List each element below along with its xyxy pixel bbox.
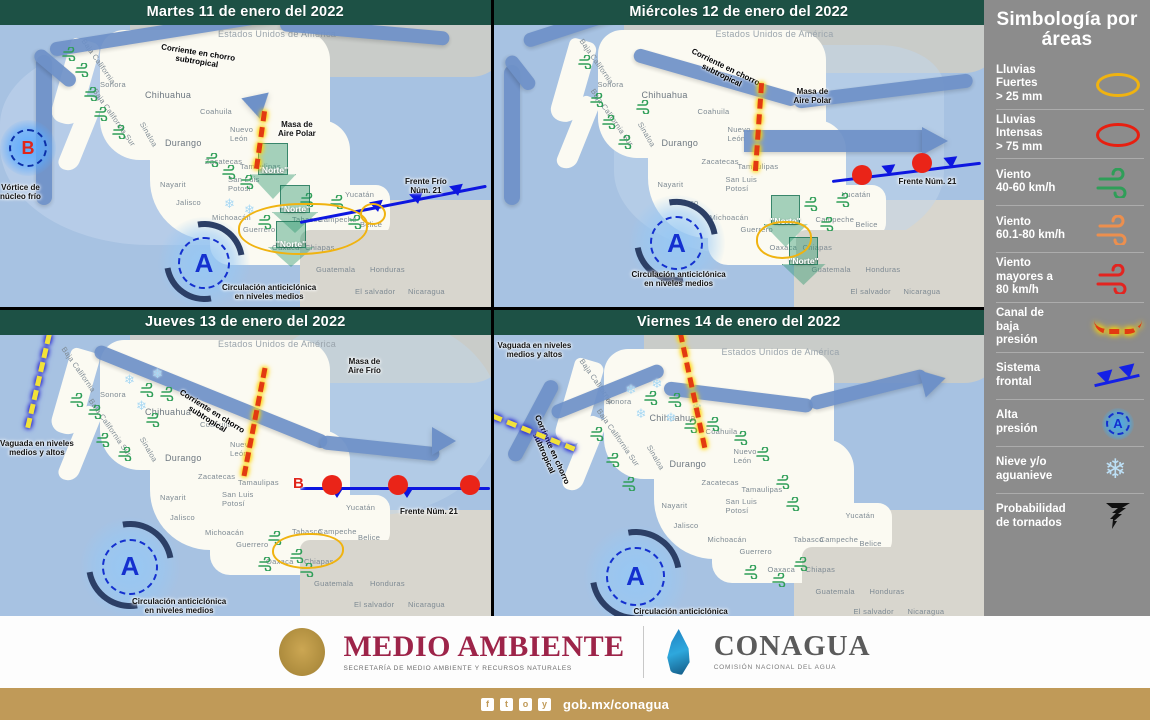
legend-label: Viento 40-60 km/h xyxy=(996,169,1092,196)
snowflake-icon: ❄ xyxy=(224,197,235,210)
cold-front-label-jueves: Frente Núm. 21 xyxy=(400,507,458,516)
forecast-panel-grid: Martes 11 de enero del 2022 Estados Unid… xyxy=(0,0,984,616)
green-wind-icon xyxy=(1092,163,1144,201)
legend-item-lluvias-fuertes[interactable]: Lluvias Fuertes > 25 mm xyxy=(996,60,1144,109)
red-oval-icon xyxy=(1092,115,1144,153)
weather-forecast-infographic: Martes 11 de enero del 2022 Estados Unid… xyxy=(0,0,1150,720)
twitter-icon[interactable]: t xyxy=(500,698,513,711)
orange-wind-icon xyxy=(1092,210,1144,248)
conagua-drop-icon xyxy=(662,627,696,677)
tornado-icon xyxy=(1092,498,1144,536)
anticyclone-label-viernes: Circulación anticiclónicaen niveles medi… xyxy=(634,607,728,617)
legend-label: Viento mayores a 80 km/h xyxy=(996,257,1092,298)
legend-label: Probabilidad de tornados xyxy=(996,503,1092,530)
cold-front-label-miercoles: Frente Núm. 21 xyxy=(899,177,957,186)
legend-item-lluvias-intensas[interactable]: Lluvias Intensas > 75 mm xyxy=(996,109,1144,159)
legend-item-alta-presion[interactable]: Alta presión A xyxy=(996,399,1144,446)
legend-label: Lluvias Fuertes > 25 mm xyxy=(996,64,1092,105)
legend-label: Sistema frontal xyxy=(996,362,1092,389)
semarnat-name: MEDIO AMBIENTE xyxy=(343,632,624,662)
polar-air-mass-label-jueves: Masa deAire Frío xyxy=(348,357,381,375)
legend-item-sistema-frontal[interactable]: Sistema frontal xyxy=(996,352,1144,399)
red-wind-icon xyxy=(1092,259,1144,297)
legend-item-viento-40-60[interactable]: Viento 40-60 km/h xyxy=(996,158,1144,205)
anticyclone-label-martes: Circulación anticiclónicaen niveles medi… xyxy=(222,283,316,301)
legend-item-nieve-aguanieve[interactable]: Nieve y/o aguanieve ❄ xyxy=(996,446,1144,493)
forecast-panel-miercoles[interactable]: Miércoles 12 de enero del 2022 Estados U… xyxy=(494,0,985,307)
panel-title-miercoles: Miércoles 12 de enero del 2022 xyxy=(494,0,985,25)
high-pressure-icon: A xyxy=(1092,404,1144,442)
legend-item-probabilidad-tornados[interactable]: Probabilidad de tornados xyxy=(996,493,1144,540)
legend-item-viento-60-80[interactable]: Viento 60.1-80 km/h xyxy=(996,205,1144,252)
intense-rain-dot xyxy=(852,165,872,185)
legend-panel: Simbología por áreas Lluvias Fuertes > 2… xyxy=(984,0,1150,616)
youtube-icon[interactable]: y xyxy=(538,698,551,711)
conagua-subtitle: COMISIÓN NACIONAL DEL AGUA xyxy=(714,665,871,672)
legend-item-viento-mayores-80[interactable]: Viento mayores a 80 km/h xyxy=(996,252,1144,302)
forecast-panel-martes[interactable]: Martes 11 de enero del 2022 Estados Unid… xyxy=(0,0,491,307)
anticyclone-viernes: A xyxy=(584,525,688,617)
polar-air-mass-label-martes: Masa deAire Polar xyxy=(278,120,316,138)
vortex-label-martes: Vórtice denúcleo frío xyxy=(0,183,41,201)
website-url[interactable]: gob.mx/conagua xyxy=(563,697,669,712)
conagua-name: CONAGUA xyxy=(714,632,871,661)
yellow-oval-icon xyxy=(1092,65,1144,103)
instagram-icon[interactable]: o xyxy=(519,698,532,711)
snowflake-icon: ❄ xyxy=(1092,451,1144,489)
intense-rain-dot xyxy=(322,475,342,495)
intense-rain-dot xyxy=(912,153,932,173)
map-viernes: Estados Unidos de América Sonora Chihuah… xyxy=(494,335,985,617)
footer-logos: MEDIO AMBIENTE SECRETARÍA DE MEDIO AMBIE… xyxy=(0,616,1150,688)
polar-air-mass-label-miercoles: Masa deAire Polar xyxy=(794,87,832,105)
legend-label: Nieve y/o aguanieve xyxy=(996,456,1092,483)
map-miercoles: Estados Unidos de América Sonora Chihuah… xyxy=(494,25,985,307)
forecast-panel-jueves[interactable]: Jueves 13 de enero del 2022 Estados Unid… xyxy=(0,310,491,617)
legend-label: Canal de baja presión xyxy=(996,307,1092,348)
cold-front-label-martes: Frente FríoNúm. 21 xyxy=(405,177,447,195)
upper-trough-label-jueves: Vaguada en nivelesmedios y altos xyxy=(0,439,74,457)
forecast-panel-viernes[interactable]: Viernes 14 de enero del 2022 Estados Uni… xyxy=(494,310,985,617)
footer-social-bar: f t o y gob.mx/conagua xyxy=(0,688,1150,720)
facebook-icon[interactable]: f xyxy=(481,698,494,711)
legend-label: Alta presión xyxy=(996,409,1092,436)
legend-title: Simbología por áreas xyxy=(984,8,1150,50)
map-martes: Estados Unidos de América Sonora Chihuah… xyxy=(0,25,491,307)
wind-icon xyxy=(62,47,78,61)
semarnat-subtitle: SECRETARÍA DE MEDIO AMBIENTE Y RECURSOS … xyxy=(343,666,624,673)
conagua-logo: CONAGUA COMISIÓN NACIONAL DEL AGUA xyxy=(714,632,871,672)
legend-label: Viento 60.1-80 km/h xyxy=(996,216,1092,243)
panel-title-jueves: Jueves 13 de enero del 2022 xyxy=(0,310,491,335)
low-pressure-trough-icon xyxy=(1092,308,1144,346)
mexico-coat-of-arms-icon xyxy=(279,628,325,676)
legend-item-canal-baja-presion[interactable]: Canal de baja presión xyxy=(996,302,1144,352)
semarnat-logo: MEDIO AMBIENTE SECRETARÍA DE MEDIO AMBIE… xyxy=(343,632,624,673)
intense-rain-dot xyxy=(460,475,480,495)
low-pressure-letter-jueves: B xyxy=(293,475,304,492)
intense-rain-dot xyxy=(388,475,408,495)
anticyclone-label-jueves: Circulación anticiclónicaen niveles medi… xyxy=(132,597,226,615)
legend-label: Lluvias Intensas > 75 mm xyxy=(996,114,1092,155)
cold-front-icon xyxy=(1092,357,1144,395)
logo-divider xyxy=(643,626,644,678)
legend-items-list: Lluvias Fuertes > 25 mm Lluvias Intensas… xyxy=(984,60,1150,540)
cold-core-vortex-martes: B xyxy=(0,120,56,176)
upper-trough-label-viernes: Vaguada en nivelesmedios y altos xyxy=(498,341,572,359)
panel-title-viernes: Viernes 14 de enero del 2022 xyxy=(494,310,985,335)
panel-title-martes: Martes 11 de enero del 2022 xyxy=(0,0,491,25)
anticyclone-label-miercoles: Circulación anticiclónicaen niveles medi… xyxy=(632,270,726,288)
map-jueves: Estados Unidos de América Sonora Chihuah… xyxy=(0,335,491,617)
